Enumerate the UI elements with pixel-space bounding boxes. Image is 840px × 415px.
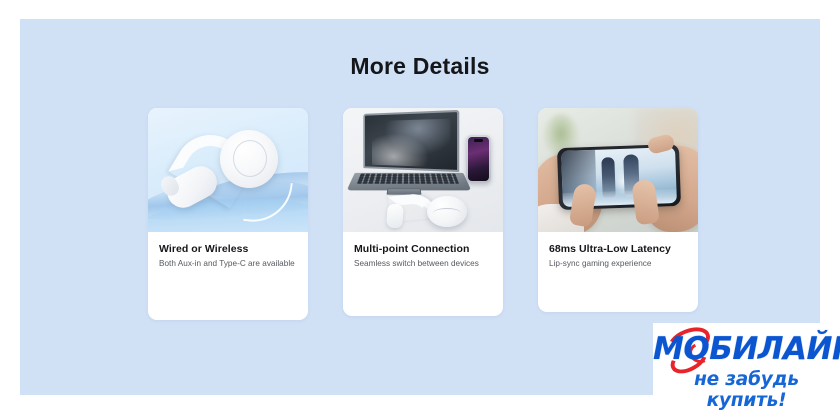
logo-tagline-text: не забудь купить! [653,369,840,411]
card-subtitle: Lip-sync gaming experience [549,259,687,268]
logo-brand-text: МОБИЛАЙН [653,327,840,371]
logo-brand-row: МОБИЛАЙН [653,327,840,371]
card-subtitle: Both Aux-in and Type-C are available [159,259,297,268]
headphone-earcup-ring [433,208,461,218]
card-text-block: Multi-point Connection Seamless switch b… [343,232,503,268]
card-image-gaming [538,108,698,232]
watermark-logo: МОБИЛАЙН не забудь купить! [653,323,840,415]
feature-card[interactable]: Wired or Wireless Both Aux-in and Type-C… [148,108,308,320]
feature-card[interactable]: 68ms Ultra-Low Latency Lip-sync gaming e… [538,108,698,312]
laptop-wallpaper [372,119,450,168]
feature-card[interactable]: Multi-point Connection Seamless switch b… [343,108,503,316]
headphone-earcup-ring [233,140,267,177]
card-title: 68ms Ultra-Low Latency [549,243,687,255]
page-root: More Details Wired or Wireless Bo [0,0,840,415]
card-text-block: Wired or Wireless Both Aux-in and Type-C… [148,232,308,268]
page-title: More Details [20,53,820,80]
card-text-block: 68ms Ultra-Low Latency Lip-sync gaming e… [538,232,698,268]
headphone-earcup-left [386,203,404,228]
card-image-headphones [148,108,308,232]
card-title: Multi-point Connection [354,243,492,255]
card-image-multipoint [343,108,503,232]
card-subtitle: Seamless switch between devices [354,259,492,268]
laptop-keyboard [357,174,459,184]
feature-card-list: Wired or Wireless Both Aux-in and Type-C… [148,108,718,348]
smartphone-notch [474,139,483,142]
card-title: Wired or Wireless [159,243,297,255]
laptop-screen [363,110,459,172]
smartphone-screen [468,137,489,181]
